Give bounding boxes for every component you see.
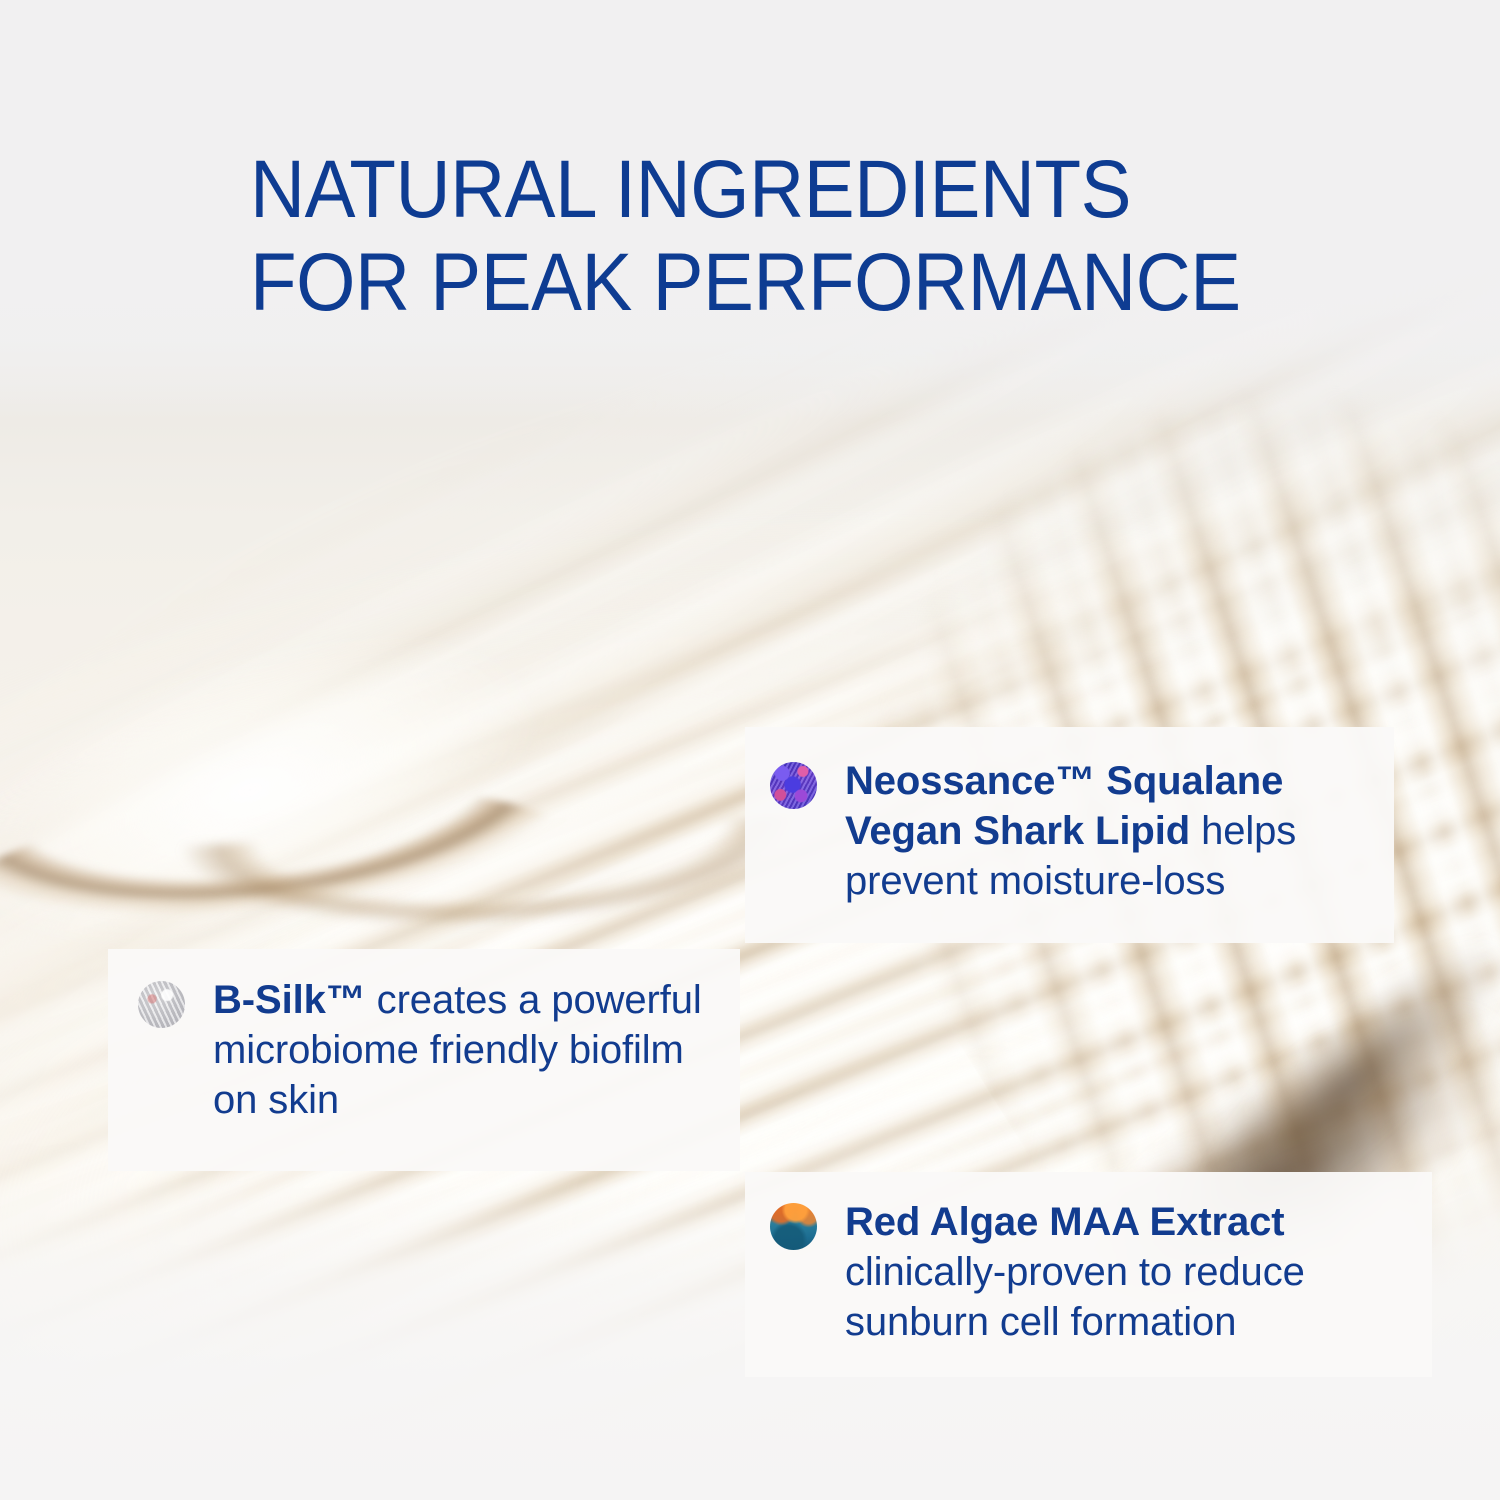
page-title: NATURAL INGREDIENTS FOR PEAK PERFORMANCE xyxy=(250,143,1282,330)
b-silk-icon xyxy=(138,981,185,1028)
ingredients-infographic: NATURAL INGREDIENTS FOR PEAK PERFORMANCE… xyxy=(0,0,1500,1500)
ingredient-card-bsilk: B-Silk™ creates a powerful microbiome fr… xyxy=(108,949,740,1171)
ingredient-benefit-red-algae: clinically-proven to reduce sunburn cell… xyxy=(845,1250,1305,1344)
ingredient-card-red-algae-text: Red Algae MAA Extract clinically-proven … xyxy=(845,1197,1412,1347)
ingredient-card-bsilk-text: B-Silk™ creates a powerful microbiome fr… xyxy=(213,975,720,1125)
ingredient-card-red-algae: Red Algae MAA Extract clinically-proven … xyxy=(745,1172,1432,1377)
ingredient-card-neossance: Neossance™ Squalane Vegan Shark Lipid he… xyxy=(745,727,1394,943)
ingredient-card-neossance-text: Neossance™ Squalane Vegan Shark Lipid he… xyxy=(845,756,1370,906)
neossance-squalane-icon xyxy=(770,762,817,809)
ingredient-name-bsilk: B-Silk™ xyxy=(213,978,366,1022)
ingredient-name-red-algae: Red Algae MAA Extract xyxy=(845,1200,1284,1244)
red-algae-maa-extract-icon xyxy=(770,1203,817,1250)
